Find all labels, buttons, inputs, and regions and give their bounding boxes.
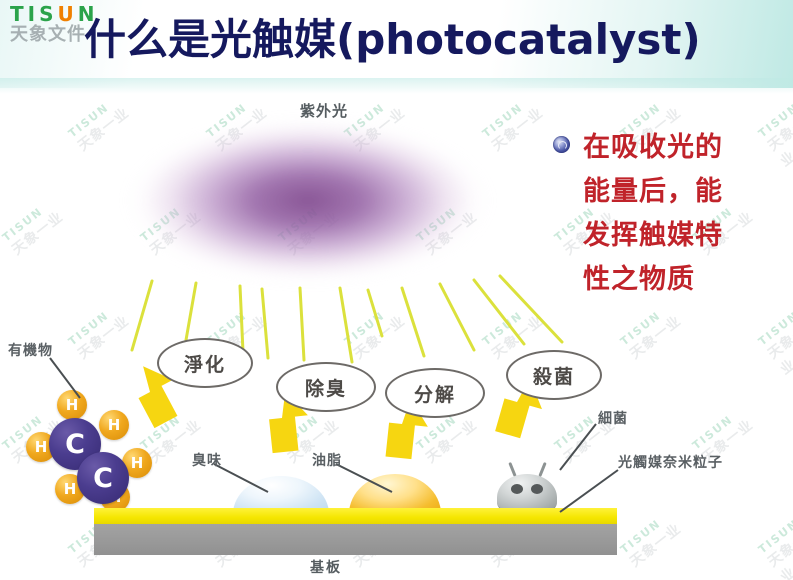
leader-grease (336, 464, 392, 492)
callout-line-1: 能量后，能 (583, 170, 788, 214)
callout-line-3: 性之物质 (583, 258, 788, 302)
label-nano-particle: 光觸媒奈米粒子 (618, 452, 723, 472)
logo-text-part1: TIS (10, 2, 58, 26)
leader-nano (560, 470, 618, 512)
callout-line-0: 在吸收光的 (583, 126, 788, 170)
label-grease: 油脂 (312, 450, 342, 470)
callout-line-2: 发挥触媒特 (583, 214, 788, 258)
leader-organic (50, 358, 80, 398)
header-fade (0, 78, 793, 94)
label-organic-matter: 有機物 (8, 340, 53, 360)
slide-canvas: TISUN天象一业TISUN天象一业TISUN天象一业TISUN天象一业TISU… (0, 0, 793, 580)
page-title: 什么是光触媒(photocatalyst) (84, 14, 784, 70)
logo-text-u: U (58, 2, 78, 26)
label-bacteria: 細菌 (598, 408, 628, 428)
slide-header: TISUN 天象文件 什么是光触媒(photocatalyst) (0, 0, 793, 88)
leader-bacteria (560, 424, 596, 470)
spiral-bullet-icon (553, 136, 570, 153)
leader-odor (214, 464, 268, 492)
callout-text: 在吸收光的能量后，能发挥触媒特性之物质 (583, 126, 788, 302)
label-odor: 臭味 (192, 450, 222, 470)
